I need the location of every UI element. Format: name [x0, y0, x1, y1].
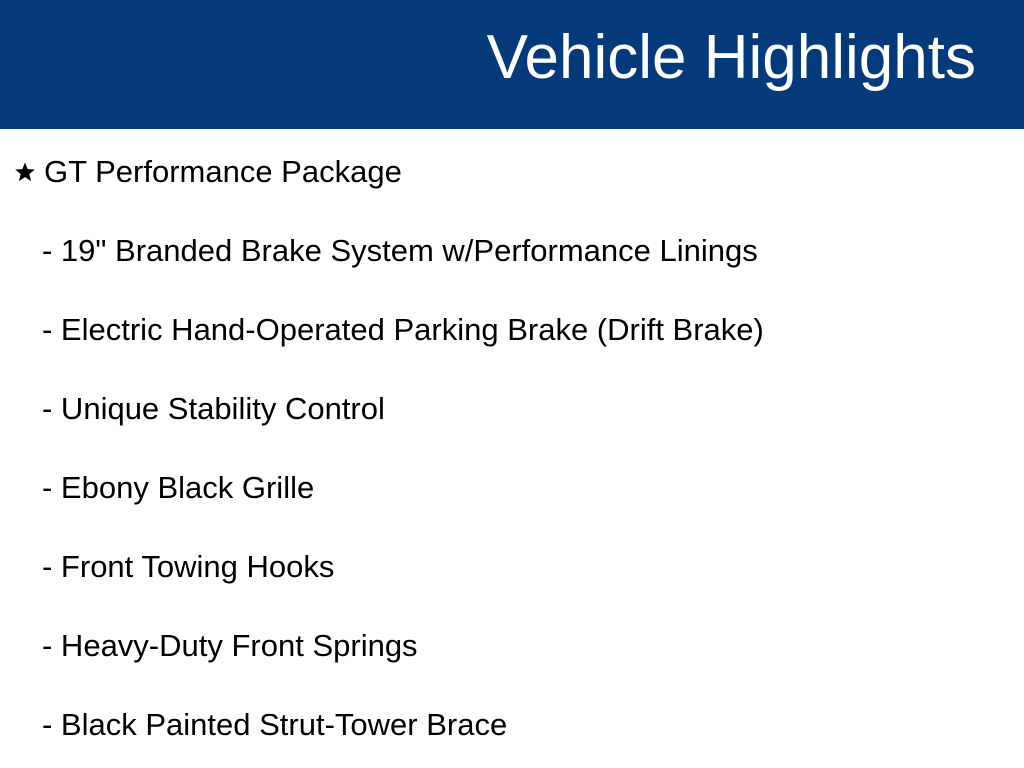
slide-body: GT Performance Package - 19" Branded Bra…	[0, 129, 1024, 768]
list-item: - Unique Stability Control	[0, 389, 1024, 429]
list-item-label: - 19" Branded Brake System w/Performance…	[42, 231, 758, 271]
list-item: - 19" Branded Brake System w/Performance…	[0, 231, 1024, 271]
list-item-main: GT Performance Package	[0, 152, 1024, 192]
list-item-label: - Unique Stability Control	[42, 389, 385, 429]
list-item-label: - Front Towing Hooks	[42, 547, 334, 587]
list-item-label: - Black Painted Strut-Tower Brace	[42, 705, 507, 745]
list-item-label: - Ebony Black Grille	[42, 468, 314, 508]
list-item-label: - Heavy-Duty Front Springs	[42, 626, 418, 666]
page-title: Vehicle Highlights	[487, 24, 976, 92]
list-item: - Heavy-Duty Front Springs	[0, 626, 1024, 666]
star-bullet-icon	[14, 161, 36, 183]
list-item: - Ebony Black Grille	[0, 468, 1024, 508]
list-item: - Electric Hand-Operated Parking Brake (…	[0, 310, 1024, 350]
list-item-label: - Electric Hand-Operated Parking Brake (…	[42, 310, 764, 350]
list-item: - Black Painted Strut-Tower Brace	[0, 705, 1024, 745]
list-item-main-label: GT Performance Package	[44, 152, 402, 192]
list-item: - Front Towing Hooks	[0, 547, 1024, 587]
title-banner: Vehicle Highlights	[0, 0, 1024, 129]
slide-canvas: Vehicle Highlights GT Performance Packag…	[0, 0, 1024, 768]
